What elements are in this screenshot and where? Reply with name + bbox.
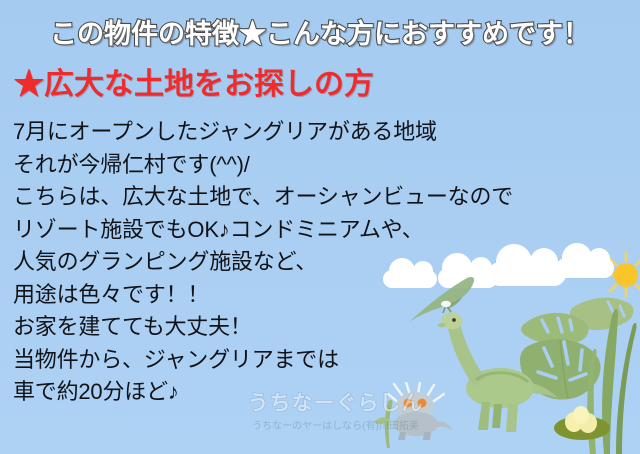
banner-title: この物件の特徴★こんな方におすすめです！ [50,12,590,51]
body-line: それが今帰仁村です(^^)/ [13,149,627,182]
body-line: 当物件から、ジャングリアまでは [13,344,627,377]
watermark-tagline: うちなーのヤーはしなら(有)川田拓美 [228,417,443,432]
watermark: うちなーぐらしん うちなーのヤーはしなら(有)川田拓美 [228,392,443,446]
banner: この物件の特徴★こんな方におすすめです！ [0,9,640,53]
body-line: リゾート施設でもOK♪コンドミニアムや、 [13,214,627,247]
body-line: 人気のグランピング施設など、 [13,246,627,279]
body-line: 7月にオープンしたジャングリアがある地域 [13,116,627,149]
watermark-logo: うちなーぐらしん [228,392,443,416]
body-line: 用途は色々です！！ [13,279,627,312]
body-line: お家を建てても大丈夫！ [13,311,627,344]
body-copy: 7月にオープンしたジャングリアがある地域 それが今帰仁村です(^^)/ こちらは… [13,116,627,409]
page-title: ★広大な土地をお探しの方 [14,59,374,103]
body-line: こちらは、広大な土地で、オーシャンビューなので [13,181,627,214]
property-listing-image: この物件の特徴★こんな方におすすめです！ ★広大な土地をお探しの方 7月にオープ… [0,0,640,454]
